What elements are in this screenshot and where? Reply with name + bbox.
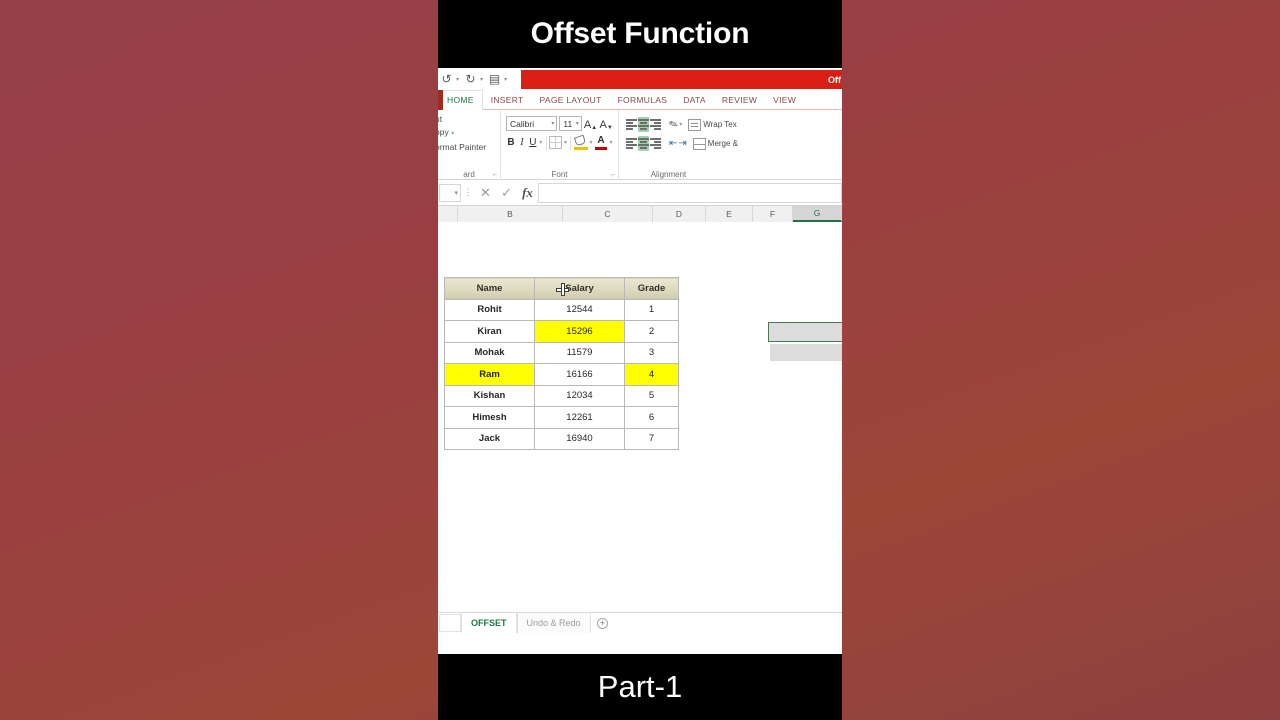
table-row: Mohak115793 [445, 342, 679, 364]
quick-access-toolbar[interactable]: ↺ ▾ ↻ ▾ ▤ ▾ [438, 68, 509, 90]
top-title-text: Offset Function [531, 19, 750, 49]
increase-font-size-icon[interactable]: A▲ [584, 116, 598, 131]
shrink-letter: A [600, 119, 607, 131]
orientation-icon: ✎ [667, 117, 680, 132]
font-color-dropdown-icon[interactable]: ▾ [609, 139, 613, 146]
align-center-icon[interactable] [638, 136, 649, 151]
column-header-a-partial[interactable] [438, 206, 458, 222]
table-row: Rohit125441 [445, 299, 679, 321]
cell-name: Himesh [445, 407, 535, 429]
undo-dropdown-icon[interactable]: ▾ [456, 76, 459, 83]
name-box[interactable]: ▾ [439, 184, 461, 202]
undo-icon[interactable]: ↺ [439, 71, 454, 87]
bottom-caption-text: Part-1 [598, 669, 682, 705]
excel-window: ↺ ▾ ↻ ▾ ▤ ▾ Off HOME INSERT PAGE LAYOUT … [438, 68, 842, 654]
redo-dropdown-icon[interactable]: ▾ [480, 76, 483, 83]
tab-page-layout[interactable]: PAGE LAYOUT [532, 90, 610, 109]
wrap-text-icon [688, 119, 701, 131]
worksheet-grid[interactable]: Name Salary Grade Rohit125441Kiran152962… [438, 222, 842, 612]
merge-center-button[interactable]: Merge & [693, 138, 738, 150]
cell-grade: 2 [625, 321, 679, 343]
cell-salary: 11579 [535, 342, 625, 364]
column-header-d[interactable]: D [653, 206, 706, 222]
name-box-dropdown-icon[interactable]: ▾ [454, 189, 458, 197]
orientation-button[interactable]: ✎ [669, 117, 678, 132]
formula-input[interactable] [538, 183, 842, 203]
format-painter-button[interactable]: ormat Painter [438, 141, 495, 154]
sheet-tab-bar[interactable]: OFFSET Undo & Redo + [438, 612, 842, 633]
copy-button[interactable]: opy ▾ [438, 126, 495, 141]
font-name-input[interactable]: Calibri ▾ [506, 116, 557, 131]
bold-button[interactable]: B [506, 135, 516, 150]
decrease-font-size-icon[interactable]: A▼ [599, 116, 613, 131]
merge-center-label: Merge & [708, 139, 738, 148]
font-color-icon: A [594, 136, 608, 150]
align-left-icon[interactable] [624, 136, 637, 151]
table-body: Rohit125441Kiran152962Mohak115793Ram1616… [445, 299, 679, 450]
tab-home[interactable]: HOME [438, 90, 483, 110]
table-row: Jack169407 [445, 428, 679, 450]
column-header-f[interactable]: F [753, 206, 793, 222]
increase-indent-icon[interactable]: ⇥ [678, 136, 686, 151]
new-sheet-button[interactable]: + [591, 613, 615, 633]
alignment-group-label: Alignment [619, 170, 718, 179]
underline-dropdown-icon[interactable]: ▾ [539, 139, 543, 146]
column-header-e[interactable]: E [706, 206, 753, 222]
ribbon-group-clipboard: ut opy ▾ ormat Painter ard ⌐ [438, 110, 500, 180]
table-row: Kiran152962 [445, 321, 679, 343]
column-header-c[interactable]: C [563, 206, 653, 222]
font-size-value: 11 [563, 119, 572, 129]
column-header-b[interactable]: B [458, 206, 563, 222]
selected-cell[interactable] [768, 322, 842, 342]
merge-cells-icon [693, 138, 706, 150]
italic-button[interactable]: I [517, 135, 527, 150]
cell-grade: 6 [625, 407, 679, 429]
sheet-scroll-buttons[interactable] [439, 614, 461, 632]
ribbon-tab-strip[interactable]: HOME INSERT PAGE LAYOUT FORMULAS DATA RE… [438, 90, 842, 110]
font-size-dropdown-icon[interactable]: ▾ [576, 120, 579, 127]
cut-button[interactable]: ut [438, 113, 495, 126]
wrap-text-label: Wrap Tex [703, 120, 737, 129]
tab-view[interactable]: VIEW [765, 90, 804, 109]
align-middle-icon[interactable] [638, 117, 649, 132]
borders-icon [549, 136, 562, 149]
table-row: Himesh122616 [445, 407, 679, 429]
ribbon-group-alignment: ✎ ▾ Wrap Tex ⇤ ⇥ [618, 110, 718, 180]
clipboard-dialog-launcher-icon[interactable]: ⌐ [493, 172, 497, 179]
title-bar-red-strip: Off [521, 70, 842, 89]
column-header-grade: Grade [625, 278, 679, 300]
font-name-dropdown-icon[interactable]: ▾ [551, 120, 554, 127]
table-icon[interactable]: ▤ [487, 71, 502, 87]
cell-salary: 12544 [535, 299, 625, 321]
ribbon-group-font: Calibri ▾ 11 ▾ A▲ A▼ B I [500, 110, 618, 180]
tab-insert[interactable]: INSERT [483, 90, 532, 109]
cell-salary: 15296 [535, 321, 625, 343]
tab-data[interactable]: DATA [675, 90, 714, 109]
align-top-icon[interactable] [624, 117, 637, 132]
cell-grade: 5 [625, 385, 679, 407]
column-header-name: Name [445, 278, 535, 300]
tab-review[interactable]: REVIEW [714, 90, 765, 109]
tab-formulas[interactable]: FORMULAS [610, 90, 676, 109]
cell-salary: 16166 [535, 364, 625, 386]
font-group-label: Font [501, 170, 618, 179]
cell-grade: 1 [625, 299, 679, 321]
table-row: Kishan120345 [445, 385, 679, 407]
top-title-banner: Offset Function [438, 0, 842, 68]
cell-grade: 7 [625, 428, 679, 450]
align-bottom-icon[interactable] [650, 117, 663, 132]
table-header-row: Name Salary Grade [445, 278, 679, 300]
formula-bar: ▾ ⋮ ✕ ✓ fx [438, 180, 842, 206]
video-frame: Offset Function ↺ ▾ ↻ ▾ ▤ ▾ Off HOME INS… [438, 0, 842, 720]
sheet-tab-undo-redo[interactable]: Undo & Redo [517, 613, 591, 633]
wrap-text-button[interactable]: Wrap Tex [688, 119, 737, 131]
cell-name: Jack [445, 428, 535, 450]
ribbon-content: ut opy ▾ ormat Painter ard ⌐ Calibri ▾ 1… [438, 110, 842, 180]
confirm-formula-icon[interactable]: ✓ [496, 183, 517, 203]
cell-grade: 4 [625, 364, 679, 386]
fill-color-dropdown-icon[interactable]: ▾ [589, 139, 593, 146]
font-name-value: Calibri [510, 119, 534, 129]
fill-color-icon [574, 136, 588, 150]
font-dialog-launcher-icon[interactable]: ⌐ [611, 172, 615, 179]
file-tab-edge[interactable] [438, 90, 443, 110]
sheet-tab-offset[interactable]: OFFSET [461, 613, 517, 633]
table-row: Ram161664 [445, 364, 679, 386]
grow-letter: A [584, 119, 591, 131]
adjacent-cell-fill[interactable] [770, 344, 842, 361]
plus-icon: + [597, 618, 608, 629]
align-right-icon[interactable] [650, 136, 663, 151]
decrease-indent-icon[interactable]: ⇤ [669, 136, 677, 151]
cell-grade: 3 [625, 342, 679, 364]
data-table: Name Salary Grade Rohit125441Kiran152962… [444, 277, 679, 450]
insert-function-icon[interactable]: fx [517, 183, 538, 203]
app-title-text: Off [828, 75, 842, 85]
copy-label: opy [438, 127, 449, 137]
borders-button[interactable] [549, 135, 562, 150]
column-header-row[interactable]: B C D E F G [438, 206, 842, 222]
qat-customize-icon[interactable]: ▾ [504, 76, 507, 83]
redo-icon[interactable]: ↻ [463, 71, 478, 87]
fill-color-button[interactable] [574, 135, 588, 150]
cell-name: Ram [445, 364, 535, 386]
bottom-caption-banner: Part-1 [438, 654, 842, 720]
column-header-g[interactable]: G [793, 206, 842, 222]
cell-salary: 12034 [535, 385, 625, 407]
font-size-input[interactable]: 11 ▾ [559, 116, 581, 131]
cell-salary: 16940 [535, 428, 625, 450]
excel-title-bar: ↺ ▾ ↻ ▾ ▤ ▾ Off [438, 68, 842, 90]
column-header-salary: Salary [535, 278, 625, 300]
cancel-formula-icon[interactable]: ✕ [475, 183, 496, 203]
borders-dropdown-icon[interactable]: ▾ [563, 139, 567, 146]
cell-name: Rohit [445, 299, 535, 321]
font-color-letter: A [594, 135, 608, 146]
divider [570, 136, 571, 150]
font-color-button[interactable]: A [594, 135, 608, 150]
cell-name: Kiran [445, 321, 535, 343]
cell-name: Mohak [445, 342, 535, 364]
cell-salary: 12261 [535, 407, 625, 429]
divider [546, 136, 547, 150]
copy-dropdown-icon[interactable]: ▾ [451, 131, 454, 137]
formula-bar-grip-icon: ⋮ [461, 187, 475, 198]
cell-name: Kishan [445, 385, 535, 407]
underline-button[interactable]: U [528, 135, 538, 150]
clipboard-group-label: ard [438, 170, 500, 179]
